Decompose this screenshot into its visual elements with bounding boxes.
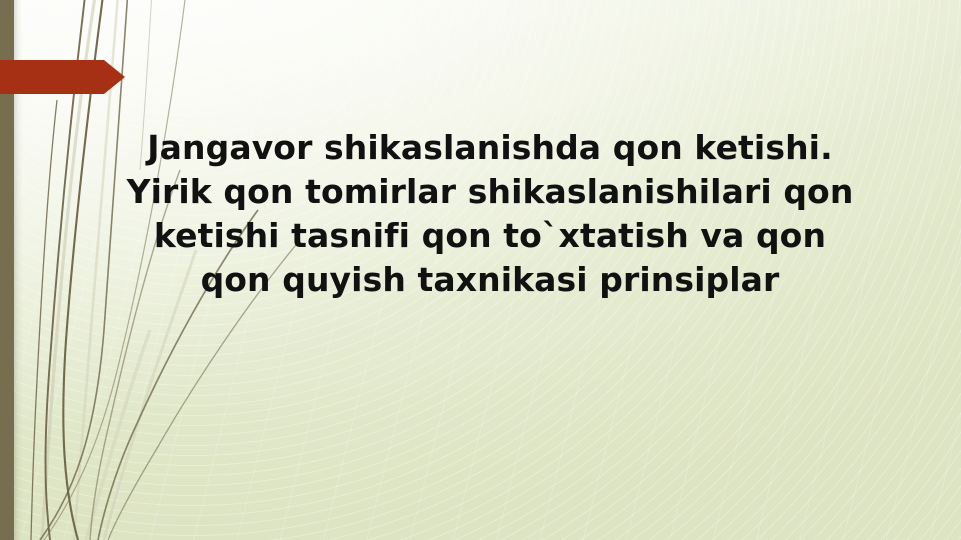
title-line-1: Jangavor shikaslanishda qon ketishi. [60,126,920,170]
presentation-slide: Jangavor shikaslanishda qon ketishi. Yir… [0,0,961,540]
title-line-3: ketishi tasnifi qon to`xtatish va qon [60,214,920,258]
arrow-banner-shape [0,60,125,94]
title-line-4: qon quyish taxnikasi prinsiplar [60,258,920,302]
title-line-2: Yirik qon tomirlar shikaslanishilari qon [60,170,920,214]
slide-title: Jangavor shikaslanishda qon ketishi. Yir… [60,126,920,302]
